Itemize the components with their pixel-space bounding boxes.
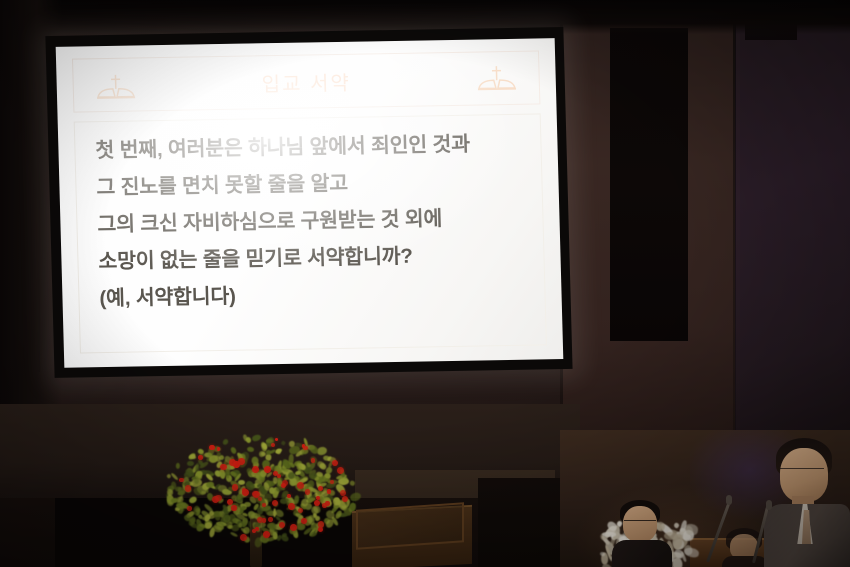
tree-leaf — [222, 438, 229, 446]
tree-berry — [290, 524, 297, 531]
wall-seam-secondary — [733, 0, 736, 460]
tree-berry — [297, 482, 304, 489]
photo-scene: 입교 서약 첫 번째, 여러분은 하나님 앞에서 죄인인 것과 그 진노를 면치… — [0, 0, 850, 567]
tree-berry — [332, 460, 338, 466]
cross-on-open-book-icon — [95, 73, 136, 100]
slide-line: 그의 크신 자비하심으로 구원받는 것 외에 — [97, 207, 523, 237]
tree-leaf — [252, 434, 262, 442]
tree-berry — [337, 467, 344, 474]
tree-berry — [227, 499, 233, 505]
auditorium-wall-far-right — [735, 0, 850, 460]
tree-leaf — [325, 466, 334, 475]
tree-berry — [311, 458, 315, 462]
tree-berry — [217, 447, 221, 451]
tree-leaf — [322, 477, 328, 481]
eyeglasses-icon — [780, 468, 824, 477]
tree-leaf — [280, 440, 285, 446]
tree-berry — [303, 446, 307, 450]
tree-berry — [242, 489, 249, 496]
tree-leaf — [349, 491, 361, 502]
tree-berry — [185, 485, 192, 492]
tree-berry — [264, 466, 271, 473]
microphone-left-capsule — [726, 495, 732, 505]
tree-berry — [268, 517, 273, 522]
slide-line: 소망이 없는 줄을 믿기로 서약합니까? — [98, 244, 524, 274]
tree-leaf — [349, 481, 355, 487]
tree-leaf — [251, 456, 258, 464]
tree-berry — [198, 455, 203, 460]
tree-leaf — [246, 447, 253, 453]
tree-berry — [240, 534, 247, 541]
slide-line: 그 진노를 면치 못할 줄을 알고 — [96, 170, 522, 200]
tree-berry — [220, 464, 226, 470]
flower-petal — [600, 552, 605, 557]
screen-surface: 입교 서약 첫 번째, 여러분은 하나님 앞에서 죄인인 것과 그 진노를 면치… — [56, 38, 564, 368]
projection-screen: 입교 서약 첫 번째, 여러분은 하나님 앞에서 죄인인 것과 그 진노를 면치… — [45, 27, 572, 378]
tree-berry — [288, 503, 295, 510]
tree-berry — [273, 471, 278, 476]
tree-leaf — [171, 481, 176, 489]
tree-berry — [305, 489, 311, 495]
slide-body: 첫 번째, 여러분은 하나님 앞에서 죄인인 것과 그 진노를 면치 못할 줄을… — [74, 113, 547, 353]
tree-berry — [342, 496, 348, 502]
tree-berry — [212, 496, 219, 503]
slide-line-answer: (예, 서약합니다) — [99, 281, 525, 311]
tree-berry — [231, 505, 236, 510]
tree-leaf — [218, 469, 226, 480]
speaker-at-podium — [762, 438, 850, 567]
flower-petal — [673, 522, 680, 529]
tree-berry — [325, 501, 330, 506]
suit — [612, 540, 672, 567]
slide-line: 첫 번째, 여러분은 하나님 앞에서 죄인인 것과 — [95, 133, 521, 163]
tree-berry — [275, 438, 279, 442]
tree-leaf — [187, 460, 194, 466]
slide-header: 입교 서약 — [72, 50, 540, 112]
microphone-right-capsule — [766, 500, 772, 510]
tree-berry — [238, 458, 245, 465]
tree-leaf — [188, 495, 198, 504]
tree-leaf — [229, 531, 238, 538]
tree-berry — [327, 489, 332, 494]
tree-berry — [271, 443, 275, 447]
tree-leaf — [287, 471, 295, 479]
tree-berry — [187, 506, 192, 511]
tree-berry — [318, 527, 323, 532]
tree-berry — [279, 522, 285, 528]
eyeglasses-icon — [624, 520, 656, 527]
tree-leaf — [257, 506, 263, 514]
tree-berry — [272, 500, 278, 506]
tree-berry — [265, 533, 269, 537]
seated-man-with-glasses — [612, 500, 672, 567]
pulpit-glass-panel — [356, 502, 464, 550]
tree-berry — [298, 508, 304, 514]
cross-on-open-book-icon — [476, 65, 517, 92]
tree-leaf — [176, 463, 180, 469]
slide: 입교 서약 첫 번째, 여러분은 하나님 앞에서 죄인인 것과 그 진노를 면치… — [56, 38, 564, 368]
tree-leaf — [333, 497, 340, 505]
acoustic-panel-center-right — [610, 28, 688, 341]
tree-leaf — [248, 521, 252, 528]
tree-berry — [314, 500, 320, 506]
tree-berry — [232, 484, 238, 490]
slide-title: 입교 서약 — [261, 66, 351, 97]
berry-tree — [158, 432, 368, 567]
screen-frame: 입교 서약 첫 번째, 여러분은 하나님 앞에서 죄인인 것과 그 진노를 면치… — [45, 27, 572, 378]
tree-berry — [252, 466, 259, 473]
